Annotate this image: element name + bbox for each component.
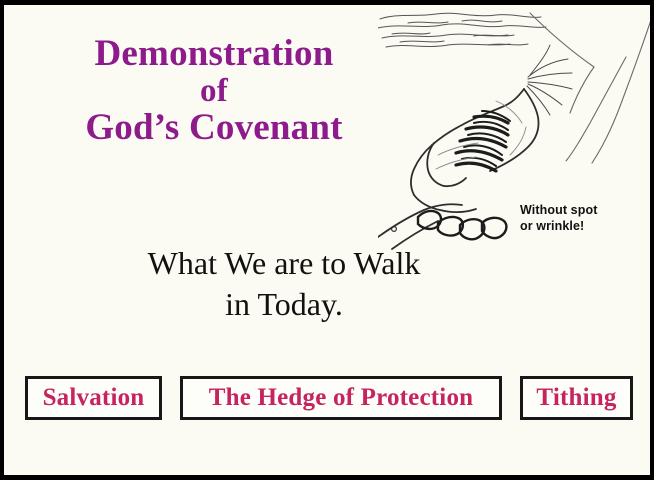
salvation-button[interactable]: Salvation (25, 376, 162, 420)
subtitle-line-2: in Today. (59, 284, 509, 324)
subtitle-line-1: What We are to Walk (59, 243, 509, 283)
title-line-3: God’s Covenant (34, 109, 394, 147)
caption-line-2: or wrinkle! (520, 219, 650, 235)
ring-detail (392, 227, 397, 232)
title-line-1: Demonstration (34, 35, 394, 73)
slide-canvas: Demonstration of God’s Covenant (4, 5, 650, 475)
caption-line-1: Without spot (520, 203, 650, 219)
navigation-button-row: Salvation The Hedge of Protection Tithin… (4, 376, 650, 428)
tithing-button-label: Tithing (536, 384, 616, 412)
hedge-of-protection-button-label: The Hedge of Protection (209, 384, 474, 412)
salvation-button-label: Salvation (43, 384, 145, 412)
tithing-button[interactable]: Tithing (520, 376, 633, 420)
slide-subtitle: What We are to Walk in Today. (59, 243, 509, 324)
hedge-of-protection-button[interactable]: The Hedge of Protection (180, 376, 502, 420)
page-title: Demonstration of God’s Covenant (34, 35, 394, 147)
illustration-caption: Without spot or wrinkle! (520, 203, 650, 234)
presentation-slide: Demonstration of God’s Covenant (0, 0, 654, 480)
title-line-2: of (34, 75, 394, 109)
